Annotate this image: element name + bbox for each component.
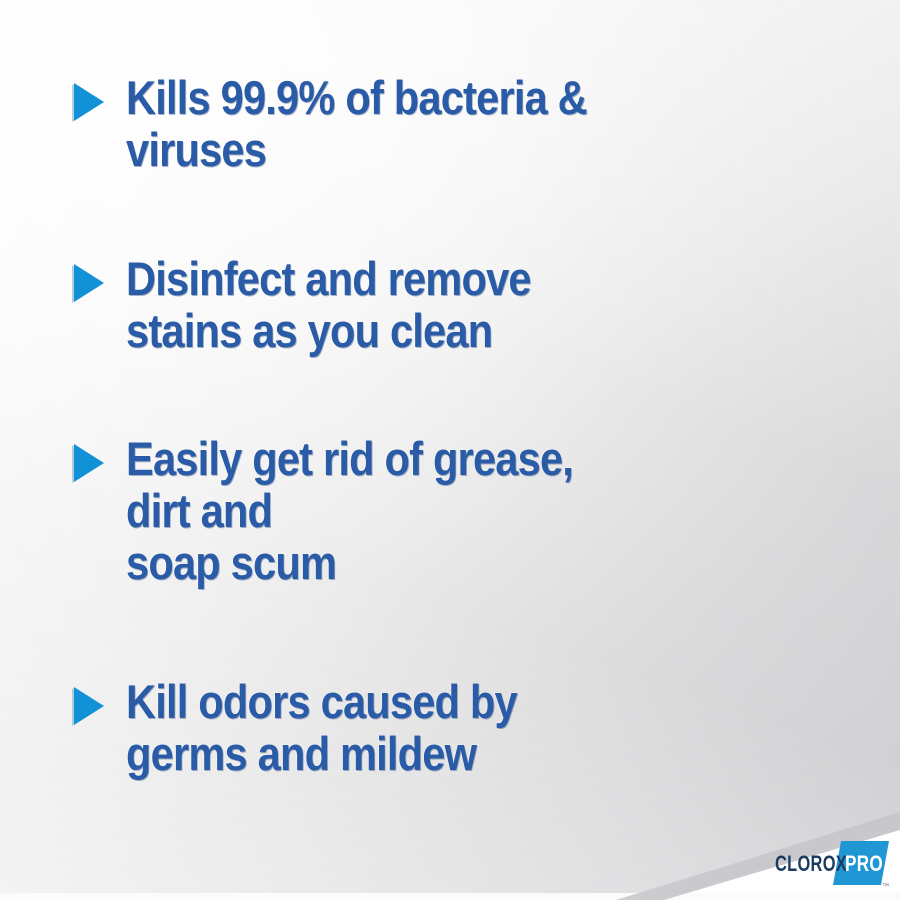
bullet-text: Kill odors caused by germs and mildew <box>126 676 517 780</box>
logo-word-primary: CLOROX <box>775 851 847 876</box>
list-item: Kill odors caused by germs and mildew <box>74 676 568 780</box>
benefit-bullet-list: Kills 99.9% of bacteria & viruses Disinf… <box>0 0 900 900</box>
benefit-panel: Kills 99.9% of bacteria & viruses Disinf… <box>0 0 900 900</box>
bullet-text: Disinfect and remove stains as you clean <box>126 253 531 357</box>
triangle-right-icon <box>74 444 104 482</box>
list-item: Easily get rid of grease, dirt and soap … <box>74 433 631 589</box>
list-item: Kills 99.9% of bacteria & viruses <box>74 72 647 176</box>
triangle-right-icon <box>74 687 104 725</box>
logo-trademark: ™ <box>882 883 889 890</box>
bullet-text: Easily get rid of grease, dirt and soap … <box>126 433 573 589</box>
bullet-text: Kills 99.9% of bacteria & viruses <box>126 72 587 176</box>
list-item: Disinfect and remove stains as you clean <box>74 253 583 357</box>
logo-word-secondary: PRO <box>845 851 883 876</box>
triangle-right-icon <box>74 264 104 302</box>
cloroxpro-logo: CLOROX PRO ™ <box>775 841 893 891</box>
triangle-right-icon <box>74 83 104 121</box>
